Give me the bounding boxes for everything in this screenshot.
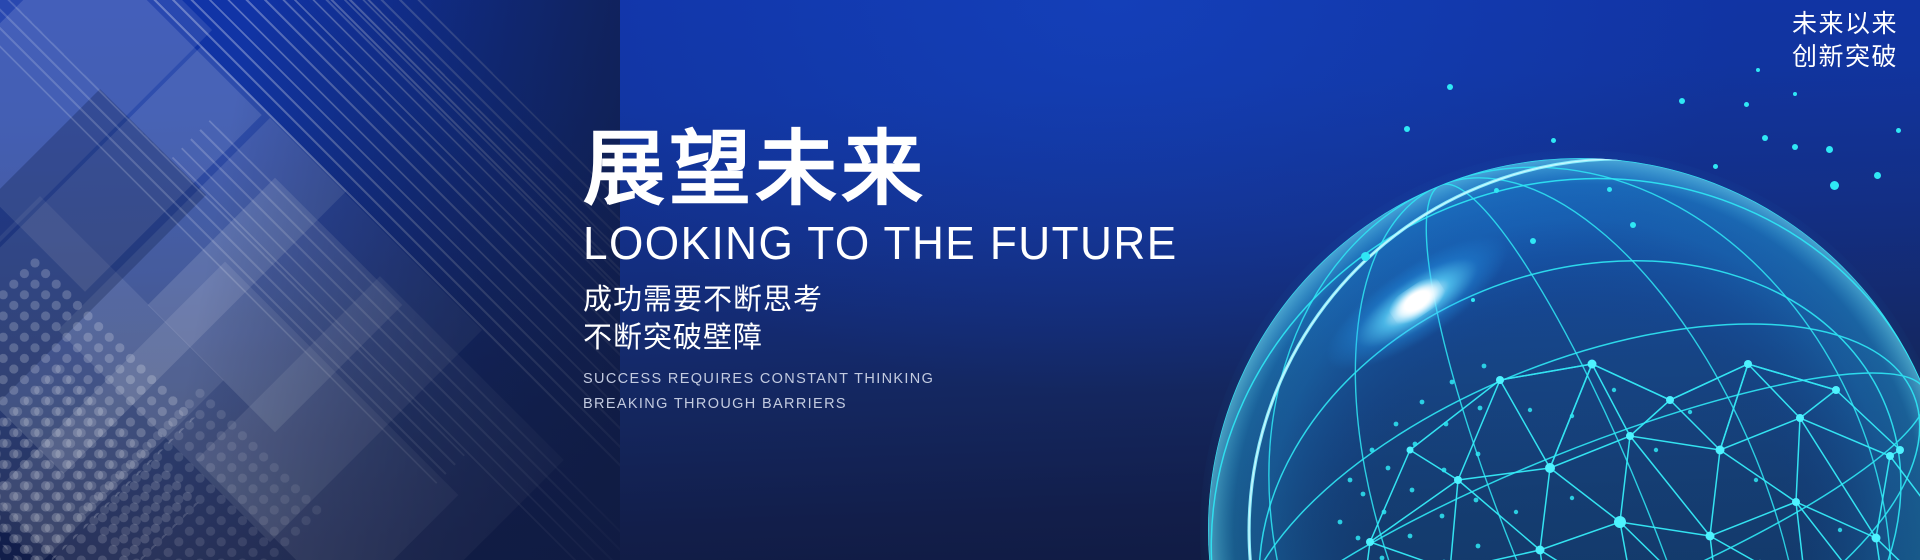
particle-dot	[1830, 181, 1839, 190]
particle-dot	[1826, 146, 1833, 153]
page-subtitle-en: LOOKING TO THE FUTURE	[583, 218, 1082, 269]
particle-dot	[1762, 135, 1768, 141]
supporting-text-cn-line1: 成功需要不断思考	[583, 282, 1103, 320]
supporting-text-cn: 成功需要不断思考 不断突破壁障	[583, 282, 1103, 357]
particle-dot	[1471, 298, 1475, 302]
particle-dot	[1607, 187, 1612, 192]
particle-dot	[1744, 102, 1749, 107]
particle-dot	[1361, 252, 1370, 261]
supporting-text-cn-line2: 不断突破壁障	[583, 320, 1103, 358]
supporting-text-en-line1: SUCCESS REQUIRES CONSTANT THINKING	[583, 367, 1103, 392]
supporting-text-en-line2: BREAKING THROUGH BARRIERS	[583, 392, 1103, 417]
page-title: 展望未来	[583, 128, 1103, 212]
particle-dot	[1630, 222, 1636, 228]
particle-dot	[1679, 98, 1685, 104]
corner-slogan-line1: 未来以来	[1792, 8, 1898, 41]
particle-dot	[1756, 68, 1760, 72]
particle-dot	[1713, 164, 1718, 169]
particle-dot	[1447, 84, 1453, 90]
particle-dot	[1404, 126, 1410, 132]
particle-dot	[1494, 188, 1499, 193]
particle-dot	[1530, 238, 1536, 244]
particle-dot	[1896, 128, 1901, 133]
supporting-text-en: SUCCESS REQUIRES CONSTANT THINKING BREAK…	[583, 367, 1103, 418]
corner-slogan-line2: 创新突破	[1792, 41, 1898, 74]
particle-dot	[1874, 172, 1881, 179]
hero-banner: 展望未来 LOOKING TO THE FUTURE 成功需要不断思考 不断突破…	[0, 0, 1920, 560]
particle-dot	[1793, 92, 1797, 96]
corner-slogan: 未来以来 创新突破	[1792, 8, 1898, 74]
particle-dot	[1551, 138, 1556, 143]
headline-block: 展望未来 LOOKING TO THE FUTURE 成功需要不断思考 不断突破…	[583, 128, 1103, 417]
particle-dot	[1792, 144, 1798, 150]
